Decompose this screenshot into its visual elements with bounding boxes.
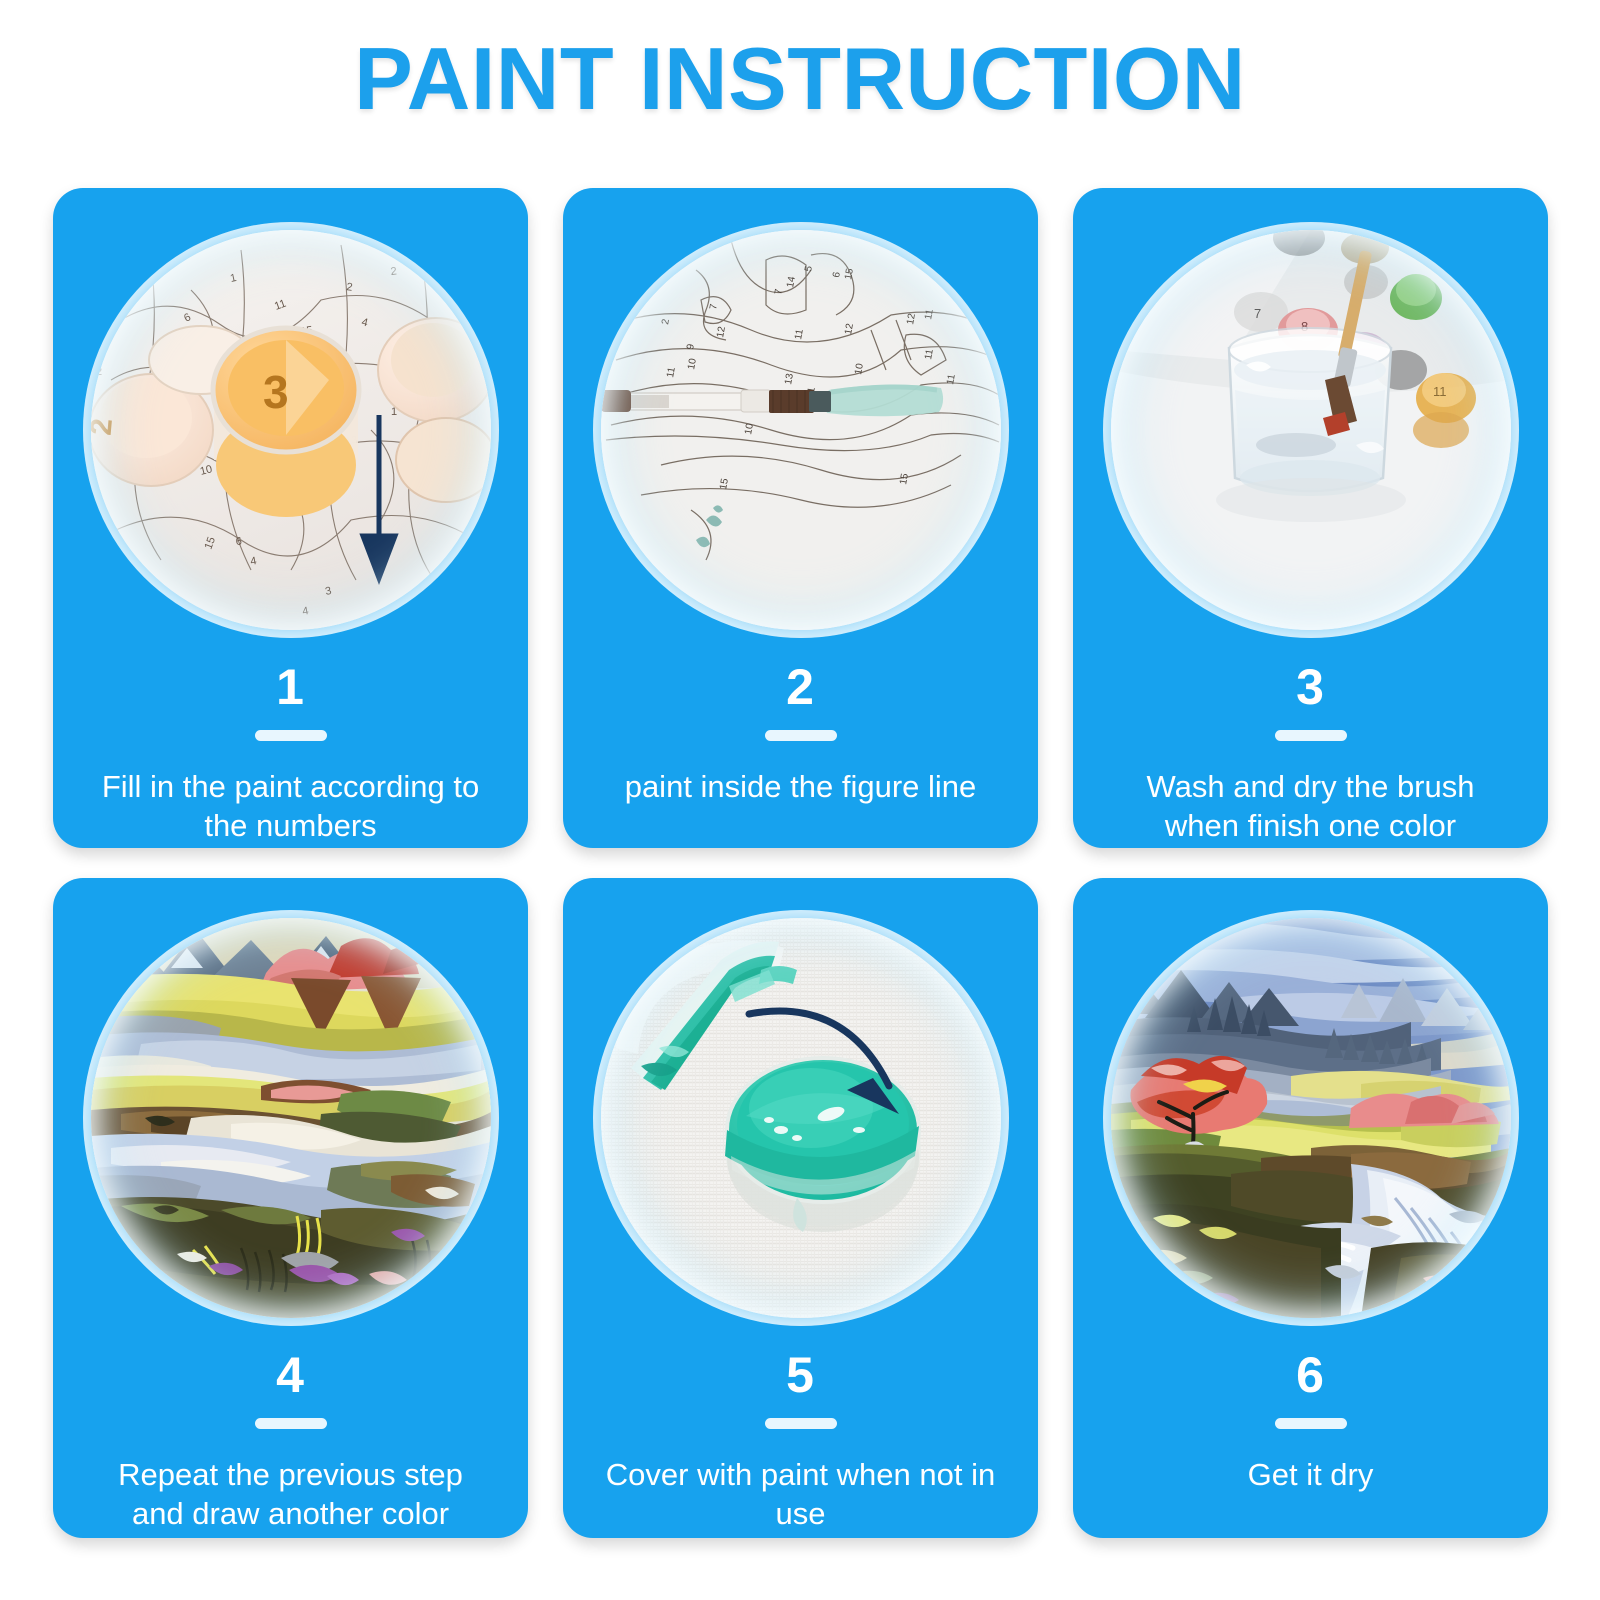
step-card-2: 5 6 14 7 15 7 2 12 11 12 11 12 9 bbox=[563, 188, 1038, 848]
partially-painted-landscape-photo bbox=[91, 918, 491, 1318]
step-card-1: 1 2 2 11 4 15 6 11 2 1 13 9 15 bbox=[53, 188, 528, 848]
svg-text:2: 2 bbox=[91, 417, 119, 437]
svg-text:7: 7 bbox=[1254, 306, 1261, 321]
step-number: 1 bbox=[276, 662, 305, 712]
step-divider bbox=[255, 730, 327, 741]
svg-text:2: 2 bbox=[390, 265, 397, 278]
paint-instruction-infographic: PAINT INSTRUCTION bbox=[0, 0, 1600, 1600]
step-number: 3 bbox=[1296, 662, 1325, 712]
step-card-4: 4 Repeat the previous step and draw anot… bbox=[53, 878, 528, 1538]
step-6-photo-wrap bbox=[1111, 918, 1511, 1318]
step-number: 2 bbox=[786, 662, 815, 712]
step-3-photo-wrap: 7 7 8 11 bbox=[1111, 230, 1511, 630]
svg-text:6: 6 bbox=[235, 536, 242, 548]
brush-in-water-glass-photo: 7 7 8 11 bbox=[1111, 230, 1511, 630]
brush-painting-inside-lines-photo: 5 6 14 7 15 7 2 12 11 12 11 12 9 bbox=[601, 230, 1001, 630]
step-number: 6 bbox=[1296, 1350, 1325, 1400]
step-caption: Cover with paint when not in use bbox=[601, 1455, 1001, 1533]
step-divider bbox=[1275, 1418, 1347, 1429]
svg-text:11: 11 bbox=[1433, 384, 1447, 399]
paint-pots-on-numbered-canvas-photo: 1 2 2 11 4 15 6 11 2 1 13 9 15 bbox=[91, 230, 491, 630]
step-caption: Get it dry bbox=[1111, 1455, 1511, 1494]
step-1-photo-wrap: 1 2 2 11 4 15 6 11 2 1 13 9 15 bbox=[91, 230, 491, 630]
step-divider bbox=[1275, 730, 1347, 741]
step-divider bbox=[765, 1418, 837, 1429]
step-4-photo-wrap bbox=[91, 918, 491, 1318]
step-card-3: 7 7 8 11 bbox=[1073, 188, 1548, 848]
svg-text:2: 2 bbox=[96, 366, 102, 378]
step-2-photo-wrap: 5 6 14 7 15 7 2 12 11 12 11 12 9 bbox=[601, 230, 1001, 630]
teal-paint-pot-with-lid-photo bbox=[601, 918, 1001, 1318]
step-caption: paint inside the figure line bbox=[601, 767, 1001, 806]
step-card-5: 5 Cover with paint when not in use bbox=[563, 878, 1038, 1538]
step-number: 5 bbox=[786, 1350, 815, 1400]
step-card-6: 6 Get it dry bbox=[1073, 878, 1548, 1538]
step-number: 4 bbox=[276, 1350, 305, 1400]
step-divider bbox=[255, 1418, 327, 1429]
finished-landscape-painting-photo bbox=[1111, 918, 1511, 1318]
step-caption: Fill in the paint according to the numbe… bbox=[91, 767, 491, 845]
steps-grid: 1 2 2 11 4 15 6 11 2 1 13 9 15 bbox=[53, 188, 1548, 1538]
step-divider bbox=[765, 730, 837, 741]
step-5-photo-wrap bbox=[601, 918, 1001, 1318]
svg-text:3: 3 bbox=[263, 366, 289, 418]
page-title: PAINT INSTRUCTION bbox=[0, 28, 1600, 129]
step-caption: Repeat the previous step and draw anothe… bbox=[91, 1455, 491, 1533]
step-caption: Wash and dry the brush when finish one c… bbox=[1111, 767, 1511, 845]
